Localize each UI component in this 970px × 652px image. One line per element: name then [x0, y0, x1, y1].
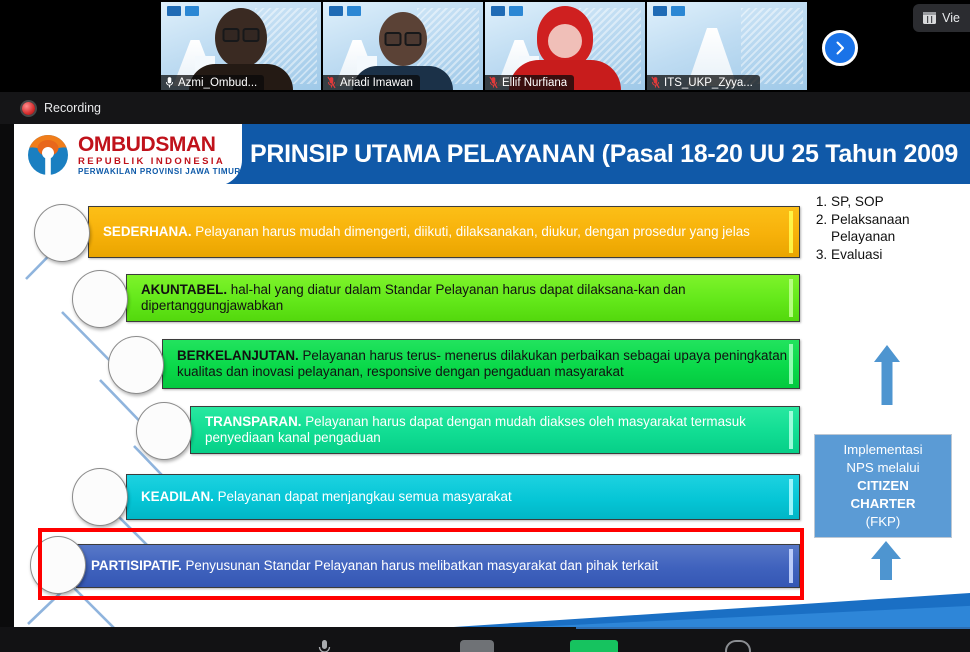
- implementation-box: Implementasi NPS melalui CITIZEN CHARTER…: [814, 434, 952, 538]
- principle-key: BERKELANJUTAN.: [177, 348, 299, 363]
- principle-row: TRANSPARAN. Pelayanan harus dapat dengan…: [190, 406, 800, 452]
- step-circle: [72, 468, 128, 526]
- logo-line-2: REPUBLIK INDONESIA: [78, 157, 241, 167]
- participant-caption: ITS_UKP_Zyya...: [647, 75, 760, 90]
- participant-caption: Ariadi Imawan: [323, 75, 420, 90]
- bar-highlight-stripe: [789, 411, 793, 449]
- participant-tile[interactable]: ITS_UKP_Zyya...: [647, 2, 807, 90]
- toolbar-divider: [576, 627, 970, 629]
- participant-caption: Azmi_Ombud...: [161, 75, 264, 90]
- participant-name: Azmi_Ombud...: [178, 77, 257, 89]
- principle-bar-berkelanjutan[interactable]: BERKELANJUTAN. Pelayanan harus terus- me…: [162, 339, 800, 389]
- principle-bar-transparan[interactable]: TRANSPARAN. Pelayanan harus dapat dengan…: [190, 406, 800, 454]
- participant-name: ITS_UKP_Zyya...: [664, 77, 753, 89]
- principle-key: AKUNTABEL.: [141, 282, 227, 297]
- participant-tile[interactable]: Ellif Nurfiana: [485, 2, 645, 90]
- next-page-button[interactable]: [822, 30, 858, 66]
- recording-indicator-icon: [22, 102, 35, 115]
- principle-text: Pelayanan dapat menjangkau semua masyara…: [214, 489, 512, 504]
- slide-title: PRINSIP UTAMA PELAYANAN (Pasal 18-20 UU …: [250, 124, 958, 184]
- highlight-box: [38, 528, 804, 600]
- arrow-up-icon: [872, 344, 902, 406]
- ombudsman-logo-icon: [26, 133, 70, 177]
- ombudsman-logo-text: OMBUDSMAN REPUBLIK INDONESIA PERWAKILAN …: [78, 134, 241, 177]
- principle-row: KEADILAN. Pelayanan dapat menjangkau sem…: [126, 474, 800, 520]
- step-circle: [72, 270, 128, 328]
- microphone-muted-icon: [165, 76, 174, 89]
- impl-line-4: CHARTER: [850, 495, 915, 513]
- principle-bar-keadilan[interactable]: KEADILAN. Pelayanan dapat menjangkau sem…: [126, 474, 800, 520]
- step-circle: [34, 204, 90, 262]
- microphone-muted-icon: [489, 76, 498, 89]
- bar-highlight-stripe: [789, 211, 793, 253]
- slide-body: SEDERHANA. Pelayanan harus mudah dimenge…: [14, 184, 970, 627]
- view-button[interactable]: Vie: [913, 4, 970, 32]
- impl-line-2: NPS melalui: [846, 459, 919, 477]
- slide-header: OMBUDSMAN REPUBLIK INDONESIA PERWAKILAN …: [14, 124, 970, 184]
- participant-filmstrip: Azmi_Ombud... Ariadi Imawan: [0, 0, 970, 92]
- principle-row: SEDERHANA. Pelayanan harus mudah dimenge…: [88, 206, 800, 252]
- arrow-up-icon: [868, 540, 904, 580]
- impl-line-1: Implementasi: [843, 441, 922, 459]
- bar-highlight-stripe: [789, 344, 793, 384]
- reactions-icon[interactable]: [725, 640, 751, 652]
- bar-highlight-stripe: [789, 279, 793, 317]
- bar-highlight-stripe: [789, 479, 793, 515]
- principle-key: KEADILAN.: [141, 489, 214, 504]
- share-screen-icon[interactable]: [570, 640, 618, 652]
- principle-bar-akuntabel[interactable]: AKUNTABEL. hal-hal yang diatur dalam Sta…: [126, 274, 800, 322]
- recording-label: Recording: [44, 101, 101, 115]
- microphone-icon[interactable]: [318, 640, 331, 652]
- video-camera-icon[interactable]: [460, 640, 494, 652]
- grid-icon: [923, 12, 936, 24]
- recording-status-bar: Recording: [0, 92, 970, 124]
- meeting-toolbar: [0, 627, 970, 652]
- microphone-muted-icon: [327, 76, 336, 89]
- impl-line-3: CITIZEN: [857, 477, 909, 495]
- participant-tile[interactable]: Ariadi Imawan: [323, 2, 483, 90]
- microphone-muted-icon: [651, 76, 660, 89]
- principle-bar-sederhana[interactable]: SEDERHANA. Pelayanan harus mudah dimenge…: [88, 206, 800, 258]
- logo-line-1: OMBUDSMAN: [78, 134, 241, 155]
- zoom-meeting-window: Azmi_Ombud... Ariadi Imawan: [0, 0, 970, 652]
- step-circle: [136, 402, 192, 460]
- impl-line-5: (FKP): [866, 513, 901, 531]
- participant-name: Ariadi Imawan: [340, 77, 413, 89]
- participant-caption: Ellif Nurfiana: [485, 75, 574, 90]
- principle-text: Pelayanan harus mudah dimengerti, diikut…: [192, 224, 750, 239]
- list-item: Evaluasi: [831, 246, 959, 263]
- list-item: SP, SOP: [831, 193, 959, 210]
- principle-row: BERKELANJUTAN. Pelayanan harus terus- me…: [162, 339, 800, 385]
- background-logos: [653, 6, 685, 16]
- ombudsman-logo: OMBUDSMAN REPUBLIK INDONESIA PERWAKILAN …: [14, 124, 242, 186]
- view-button-label: Vie: [942, 11, 960, 25]
- participant-name: Ellif Nurfiana: [502, 77, 567, 89]
- logo-line-3: PERWAKILAN PROVINSI JAWA TIMUR: [78, 168, 241, 176]
- chevron-right-icon: [832, 40, 848, 56]
- principle-row: AKUNTABEL. hal-hal yang diatur dalam Sta…: [126, 274, 800, 320]
- principle-key: TRANSPARAN.: [205, 414, 301, 429]
- step-circle: [108, 336, 164, 394]
- participant-tile[interactable]: Azmi_Ombud...: [161, 2, 321, 90]
- principle-key: SEDERHANA.: [103, 224, 192, 239]
- shared-slide: OMBUDSMAN REPUBLIK INDONESIA PERWAKILAN …: [14, 124, 970, 627]
- list-item: Pelaksanaan Pelayanan: [831, 211, 959, 245]
- numbered-list: SP, SOP Pelaksanaan Pelayanan Evaluasi: [809, 193, 959, 265]
